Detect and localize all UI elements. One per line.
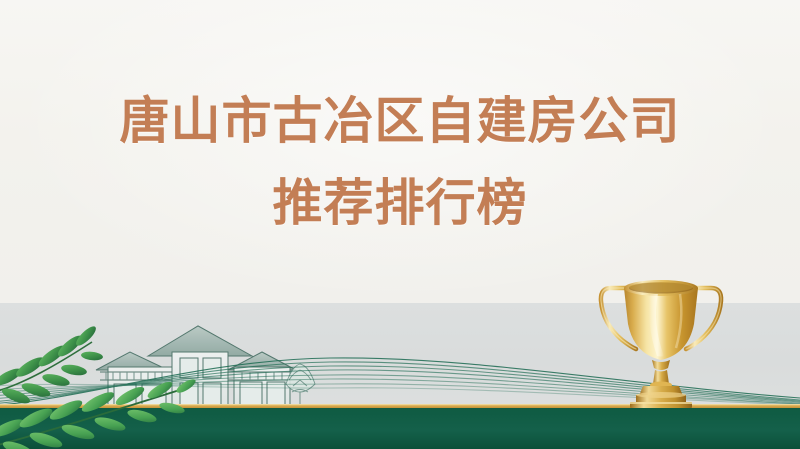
trophy-icon: [588, 272, 734, 408]
leaf-branch-upper: [0, 324, 103, 407]
title-line-2: 推荐排行榜: [0, 178, 800, 228]
title-line-1: 唐山市古冶区自建房公司: [0, 96, 800, 146]
leaf-branch: [0, 322, 290, 449]
poster-title: 唐山市古冶区自建房公司 推荐排行榜: [0, 96, 800, 228]
poster-canvas: 唐山市古冶区自建房公司 推荐排行榜: [0, 0, 800, 449]
